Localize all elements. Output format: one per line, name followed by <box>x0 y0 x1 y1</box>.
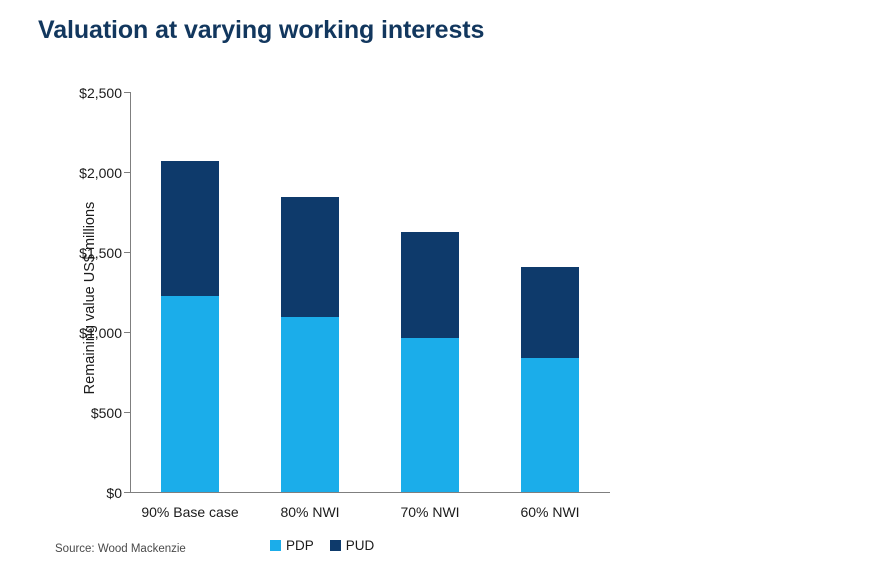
x-tick-label: 80% NWI <box>240 504 380 520</box>
bar-segment-pdp <box>281 317 339 492</box>
legend-item-pdp: PDP <box>270 538 314 553</box>
x-tick-label: 90% Base case <box>120 504 260 520</box>
y-tick-label: $0 <box>52 485 122 501</box>
legend-label-pud: PUD <box>346 538 375 553</box>
y-tick-label: $2,000 <box>52 165 122 181</box>
source-note: Source: Wood Mackenzie <box>55 543 186 555</box>
bar-segment-pud <box>161 161 219 296</box>
y-tick-label: $2,500 <box>52 85 122 101</box>
x-tick-label: 60% NWI <box>480 504 620 520</box>
legend-swatch-pdp <box>270 540 281 551</box>
bar-group <box>401 232 459 492</box>
bar-segment-pud <box>401 232 459 338</box>
x-axis-line <box>130 492 610 493</box>
bar-group <box>161 161 219 492</box>
bar-group <box>281 197 339 492</box>
legend-item-pud: PUD <box>330 538 375 553</box>
bar-segment-pdp <box>521 358 579 492</box>
y-axis-line <box>130 92 131 493</box>
chart-page: Valuation at varying working interests R… <box>0 0 870 575</box>
chart-plot-area: Remaining value US$ millions $2,500 $2,0… <box>0 0 870 575</box>
bar-group <box>521 267 579 492</box>
bar-segment-pdp <box>401 338 459 492</box>
y-axis-ticks: $2,500 $2,000 $1,500 $1,000 $500 $0 <box>50 0 122 575</box>
y-tick-label: $1,000 <box>52 325 122 341</box>
legend-label-pdp: PDP <box>286 538 314 553</box>
y-tick-label: $500 <box>52 405 122 421</box>
bar-segment-pdp <box>161 296 219 492</box>
y-tick-label: $1,500 <box>52 245 122 261</box>
bar-segment-pud <box>281 197 339 317</box>
bar-segment-pud <box>521 267 579 358</box>
legend-swatch-pud <box>330 540 341 551</box>
chart-legend: PDP PUD <box>270 538 374 553</box>
x-tick-label: 70% NWI <box>360 504 500 520</box>
